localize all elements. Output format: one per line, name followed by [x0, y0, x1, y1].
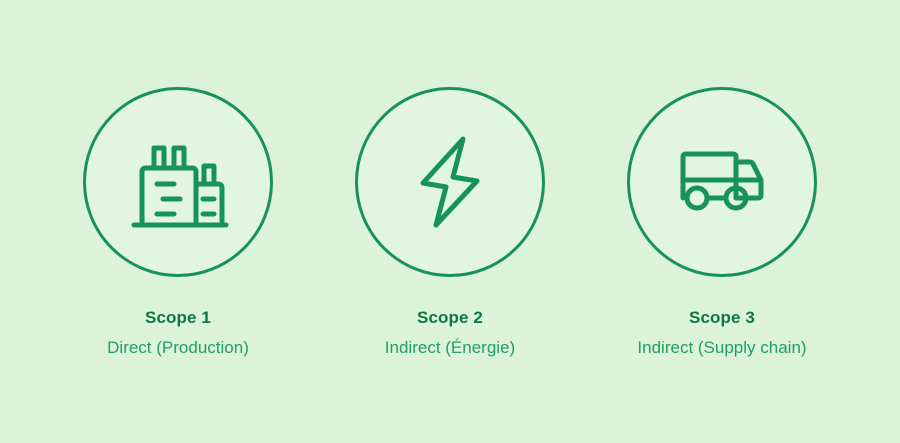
scope-2-title: Scope 2: [417, 308, 483, 328]
scopes-infographic: Scope 1 Direct (Production) Scope 2 Indi…: [0, 0, 900, 443]
scope-2-subtitle: Indirect (Énergie): [385, 337, 515, 358]
scope-card-2: Scope 2 Indirect (Énergie): [314, 0, 586, 358]
scope-3-title: Scope 3: [689, 308, 755, 328]
scope-card-3: Scope 3 Indirect (Supply chain): [586, 0, 858, 358]
scope-2-icon-circle: [355, 87, 545, 277]
truck-icon: [680, 151, 764, 213]
lightning-bolt-icon: [419, 135, 481, 229]
scope-card-1: Scope 1 Direct (Production): [42, 0, 314, 358]
scope-3-icon-circle: [627, 87, 817, 277]
factory-icon: [130, 136, 226, 228]
scope-3-subtitle: Indirect (Supply chain): [637, 337, 806, 358]
scope-1-icon-circle: [83, 87, 273, 277]
scope-1-title: Scope 1: [145, 308, 211, 328]
scope-card-row: Scope 1 Direct (Production) Scope 2 Indi…: [0, 0, 900, 443]
scope-1-subtitle: Direct (Production): [107, 337, 249, 358]
